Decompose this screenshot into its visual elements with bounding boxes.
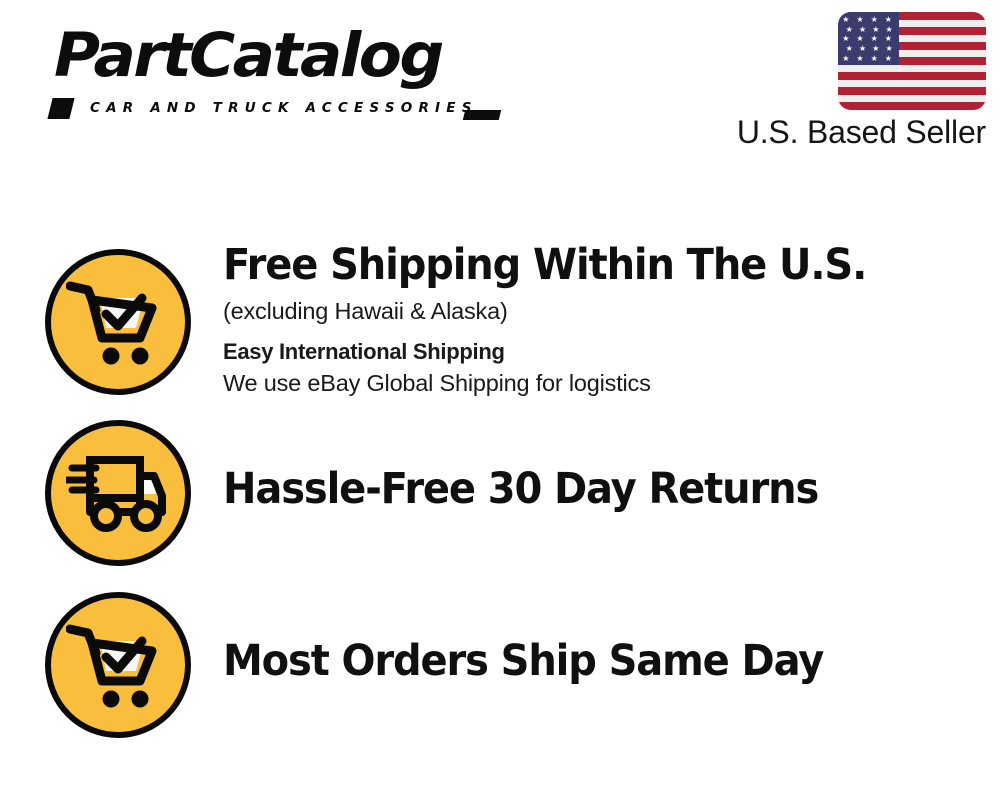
feature-row: Hassle-Free 30 Day Returns xyxy=(0,420,1000,570)
feature-subline-bold: Easy International Shipping xyxy=(223,337,983,367)
flag-star: ★ xyxy=(885,26,892,34)
flag-star: ★ xyxy=(842,55,849,63)
feature-headline: Most Orders Ship Same Day xyxy=(223,636,930,686)
flag-star: ★ xyxy=(885,35,892,43)
feature-text-block: Free Shipping Within The U.S. (excluding… xyxy=(223,240,983,398)
brand-logo[interactable]: PartCatalog CAR AND TRUCK ACCESSORIES xyxy=(24,24,494,116)
feature-row: Free Shipping Within The U.S. (excluding… xyxy=(0,249,1000,399)
flag-star: ★ xyxy=(846,26,853,34)
us-flag-icon: ★★★★★★★★★★★★★★★★★★★★ xyxy=(838,12,986,110)
flag-star: ★ xyxy=(872,45,879,53)
flag-star: ★ xyxy=(871,55,878,63)
flag-stripe xyxy=(838,72,986,80)
flag-stripe xyxy=(838,95,986,103)
brand-wordmark: PartCatalog xyxy=(54,20,442,91)
flag-star: ★ xyxy=(856,55,863,63)
flag-star: ★ xyxy=(885,16,892,24)
feature-subline: (excluding Hawaii & Alaska) xyxy=(223,296,983,326)
flag-star: ★ xyxy=(856,16,863,24)
shopping-cart-check-icon xyxy=(45,592,191,738)
flag-star: ★ xyxy=(872,26,879,34)
brand-tagline: CAR AND TRUCK ACCESSORIES xyxy=(90,100,478,116)
flag-stripe xyxy=(838,65,986,73)
flag-star: ★ xyxy=(859,26,866,34)
flag-stripe xyxy=(838,87,986,95)
flag-stripe xyxy=(838,102,986,110)
feature-text-block: Hassle-Free 30 Day Returns xyxy=(223,464,983,514)
feature-headline: Hassle-Free 30 Day Returns xyxy=(223,464,930,514)
flag-star: ★ xyxy=(871,35,878,43)
shopping-cart-check-icon xyxy=(45,249,191,395)
flag-star: ★ xyxy=(856,35,863,43)
flag-canton: ★★★★★★★★★★★★★★★★★★★★ xyxy=(838,12,899,65)
flag-star: ★ xyxy=(885,55,892,63)
feature-text-block: Most Orders Ship Same Day xyxy=(223,636,983,686)
flag-star: ★ xyxy=(842,35,849,43)
feature-headline: Free Shipping Within The U.S. xyxy=(223,240,930,290)
flag-star: ★ xyxy=(885,45,892,53)
flag-star: ★ xyxy=(871,16,878,24)
logo-slab-left-decoration xyxy=(47,98,74,119)
feature-row: Most Orders Ship Same Day xyxy=(0,592,1000,742)
flag-star: ★ xyxy=(859,45,866,53)
flag-star: ★ xyxy=(846,45,853,53)
flag-star: ★ xyxy=(842,16,849,24)
us-based-seller-label: U.S. Based Seller xyxy=(737,114,986,151)
page-header: PartCatalog CAR AND TRUCK ACCESSORIES ★★… xyxy=(0,0,1000,180)
delivery-truck-icon xyxy=(45,420,191,566)
feature-subline: We use eBay Global Shipping for logistic… xyxy=(223,368,983,398)
flag-stripe xyxy=(838,80,986,88)
